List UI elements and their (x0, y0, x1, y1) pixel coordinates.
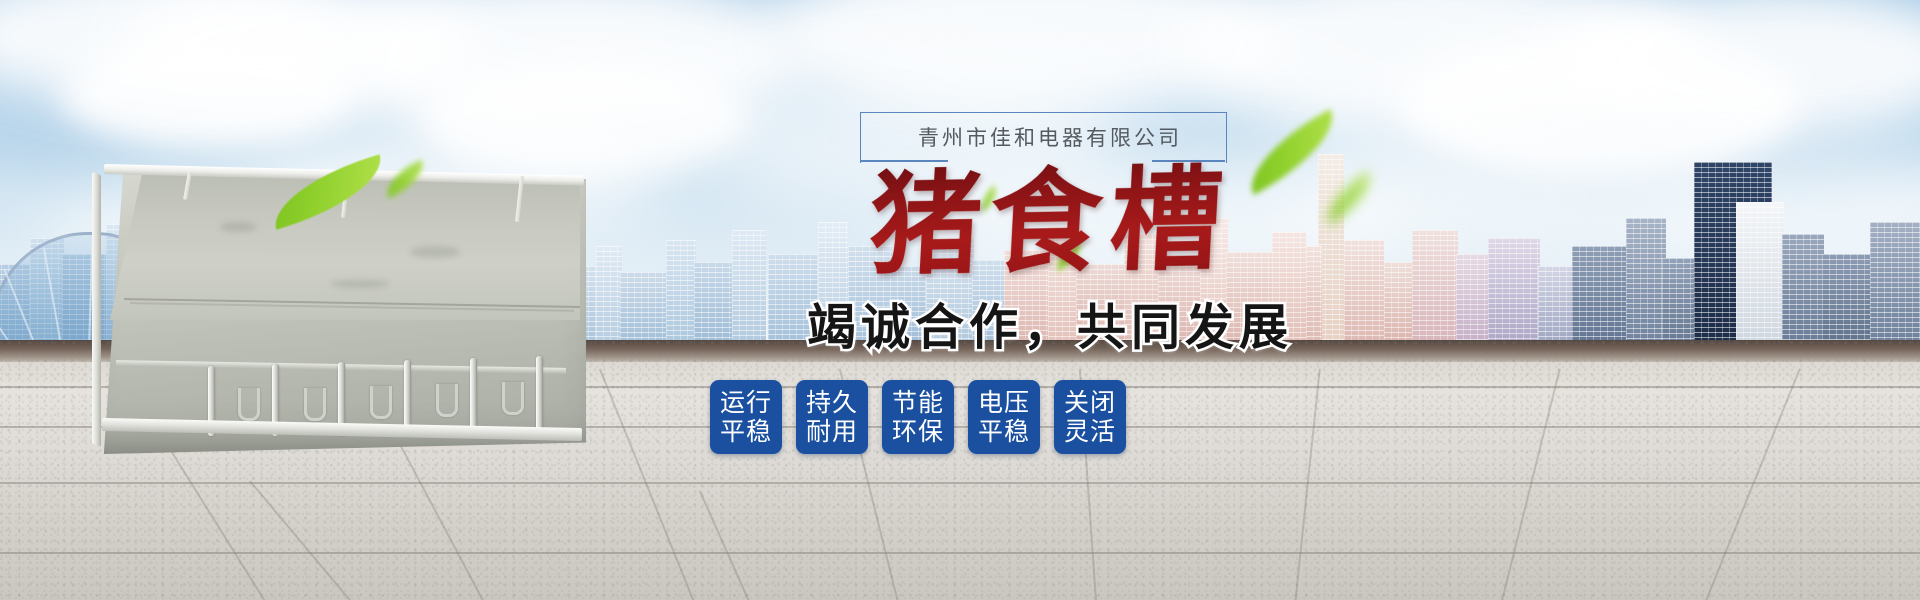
text-content-block: 青州市佳和电器有限公司 猪食槽 竭诚合作，共同发展 运行 平稳 持久 耐用 节能… (700, 96, 1400, 566)
feature-badge-5-line2: 灵活 (1064, 417, 1116, 447)
tower-white (1736, 202, 1784, 350)
trough-surface-scuff (220, 222, 256, 232)
feature-badge-1-line2: 平稳 (720, 417, 772, 447)
building (666, 240, 696, 350)
trough-divider (536, 356, 543, 436)
slogan: 竭诚合作，共同发展 (700, 288, 1400, 359)
building (1412, 230, 1458, 350)
feature-badge-5[interactable]: 关闭 灵活 (1054, 380, 1126, 454)
company-name: 青州市佳和电器有限公司 (700, 122, 1400, 152)
water-nipple (304, 388, 326, 421)
trough-divider (470, 358, 477, 436)
building (1626, 218, 1666, 350)
feature-badge-1-line1: 运行 (720, 388, 772, 418)
building (1782, 234, 1824, 350)
feature-badge-2-line2: 耐用 (806, 417, 858, 447)
water-nipple (436, 384, 458, 417)
building (1456, 254, 1490, 350)
building (1572, 246, 1628, 350)
feature-badge-3-line2: 环保 (892, 417, 944, 447)
feature-badge-4-line2: 平稳 (978, 417, 1030, 447)
feature-badge-2[interactable]: 持久 耐用 (796, 380, 868, 454)
water-nipple (370, 386, 392, 419)
building (1662, 258, 1696, 350)
product-title: 猪食槽 (697, 158, 1404, 288)
building (1538, 266, 1574, 350)
feature-badge-5-line1: 关闭 (1064, 388, 1116, 418)
promotional-banner: 青州市佳和电器有限公司 猪食槽 竭诚合作，共同发展 运行 平稳 持久 耐用 节能… (0, 0, 1920, 600)
feature-badge-2-line1: 持久 (806, 388, 858, 418)
trough-surface-scuff (410, 246, 460, 258)
water-nipple (502, 382, 524, 415)
trough-surface-scuff (330, 280, 390, 288)
building (1488, 238, 1540, 350)
building (1870, 222, 1920, 350)
building (620, 272, 666, 350)
feature-badge-3-line1: 节能 (892, 388, 944, 418)
building (1822, 254, 1874, 350)
feature-badge-list: 运行 平稳 持久 耐用 节能 环保 电压 平稳 关闭 灵活 (710, 380, 1390, 454)
water-nipple (238, 388, 260, 421)
feature-badge-4[interactable]: 电压 平稳 (968, 380, 1040, 454)
trough-left-edge (92, 172, 101, 447)
feature-badge-3[interactable]: 节能 环保 (882, 380, 954, 454)
feature-badge-4-line1: 电压 (978, 388, 1030, 418)
feature-badge-1[interactable]: 运行 平稳 (710, 380, 782, 454)
